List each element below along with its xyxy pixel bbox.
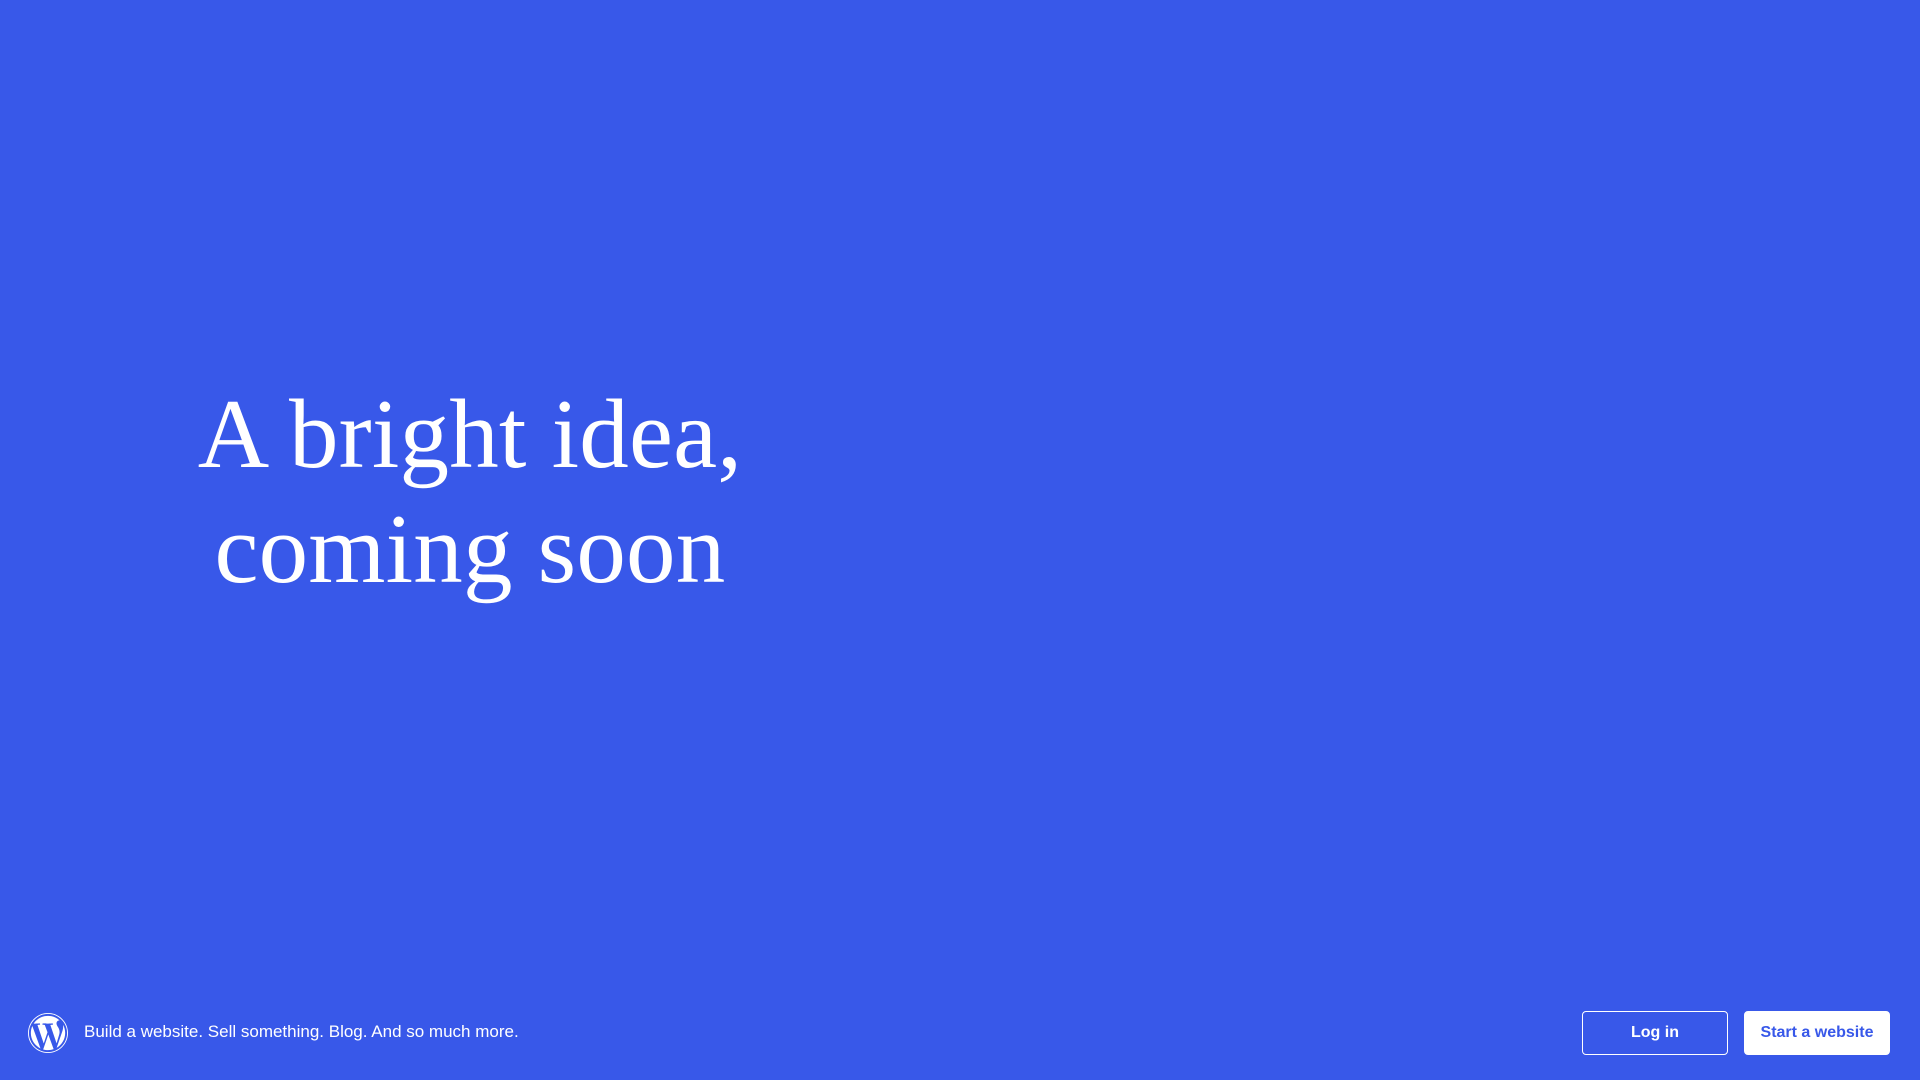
hero-content: A bright idea, coming soon	[0, 378, 790, 608]
wordpress-logo-icon	[28, 1013, 68, 1053]
start-a-website-button[interactable]: Start a website	[1744, 1011, 1890, 1055]
footer-branding: Build a website. Sell something. Blog. A…	[28, 1013, 519, 1053]
page-title: A bright idea, coming soon	[150, 378, 790, 608]
coming-soon-page: A bright idea, coming soon Build a websi…	[0, 0, 1920, 1080]
hero-section: A bright idea, coming soon	[0, 0, 1920, 985]
log-in-button[interactable]: Log in	[1582, 1011, 1728, 1055]
footer-tagline: Build a website. Sell something. Blog. A…	[84, 1021, 519, 1043]
footer-bar: Build a website. Sell something. Blog. A…	[0, 985, 1920, 1080]
footer-actions: Log in Start a website	[1582, 1011, 1890, 1055]
